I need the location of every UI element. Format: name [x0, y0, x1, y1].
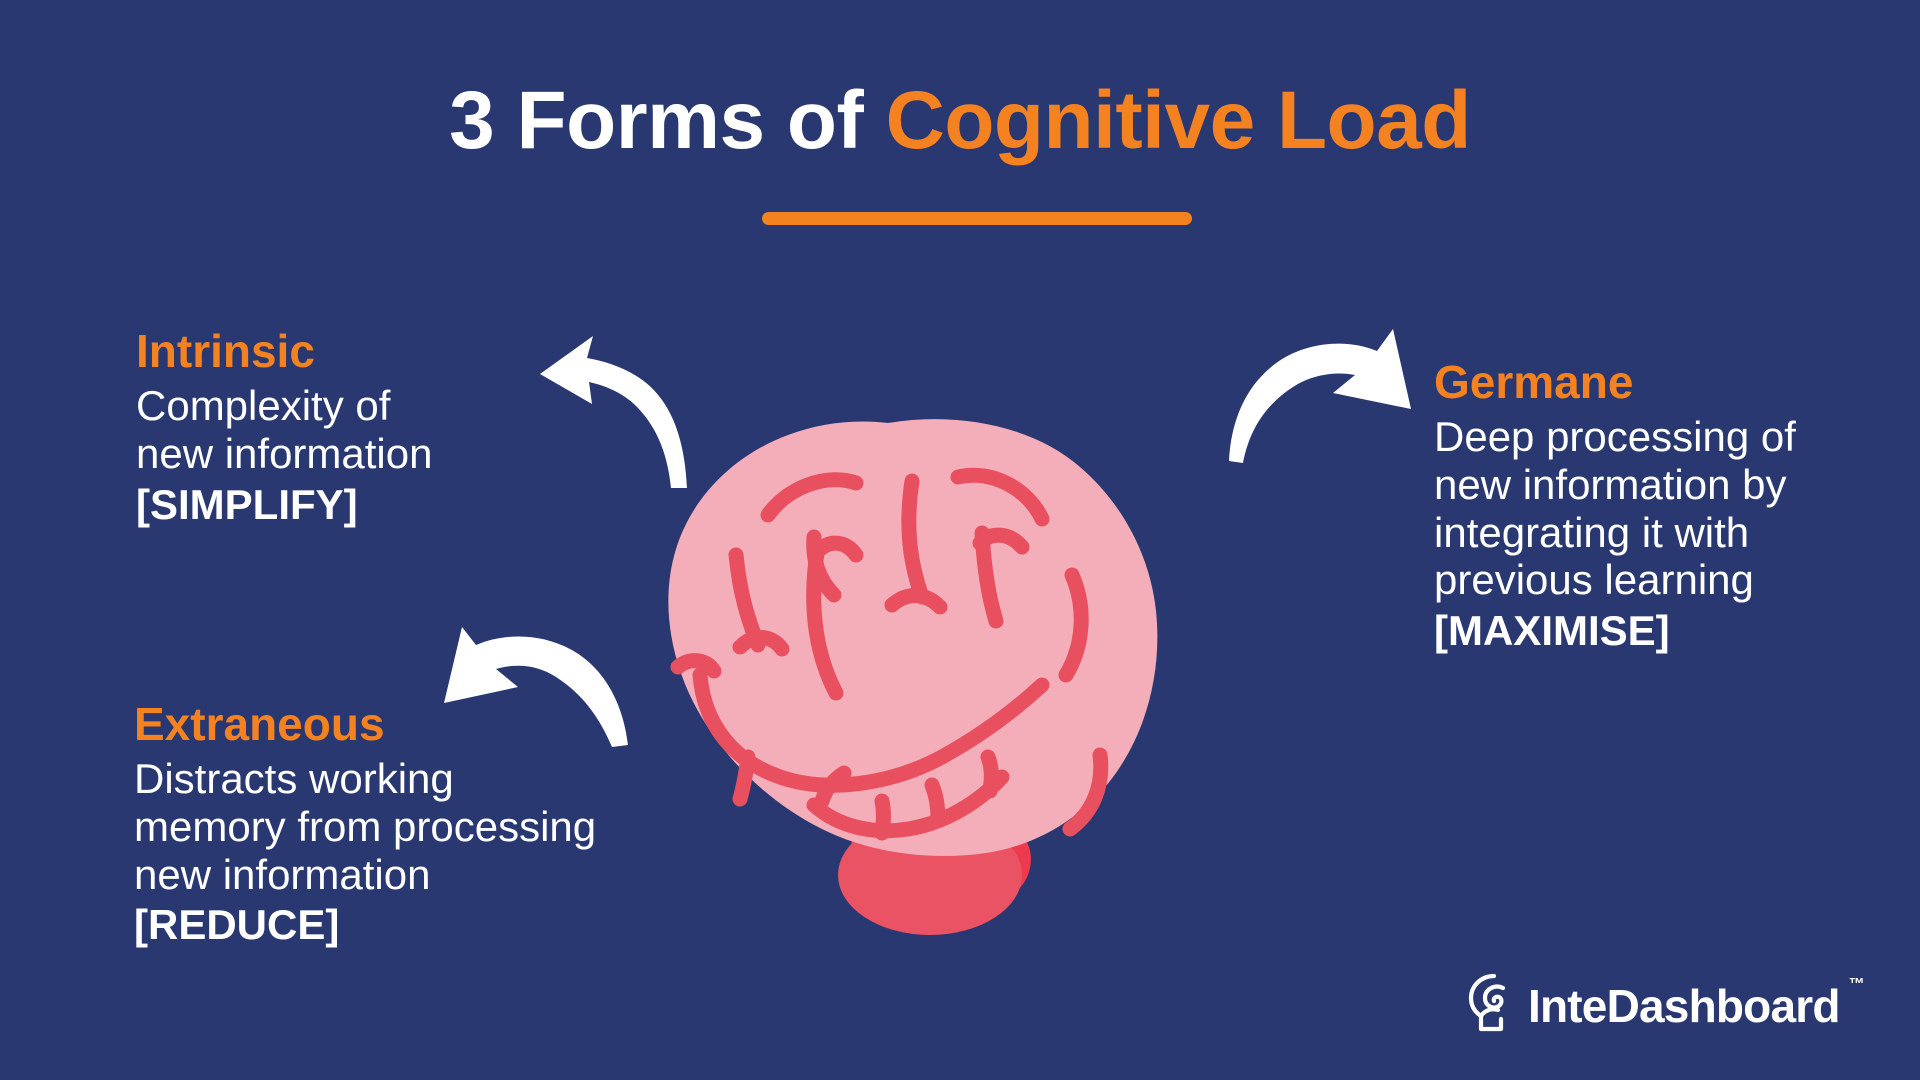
load-type-intrinsic: Intrinsic Complexity of new information … [136, 327, 432, 530]
load-type-germane: Germane Deep processing of new informati… [1434, 358, 1796, 657]
intrinsic-description: Complexity of new information [136, 382, 432, 478]
title-underline [762, 212, 1192, 225]
intrinsic-action-tag: [SIMPLIFY] [136, 480, 432, 530]
intrinsic-heading: Intrinsic [136, 327, 432, 376]
curved-arrow-up-right-icon [1225, 325, 1425, 470]
title-part-accent: Cognitive Load [886, 75, 1471, 166]
germane-line: Deep processing of [1434, 413, 1796, 461]
germane-action-tag: [MAXIMISE] [1434, 606, 1796, 656]
logo-wordmark: InteDashboard [1528, 983, 1840, 1029]
page-title: 3 Forms of Cognitive Load [0, 78, 1920, 164]
intrinsic-line: Complexity of [136, 382, 432, 430]
intedashboard-logo[interactable]: InteDashboard ™ [1468, 972, 1865, 1039]
brain-illustration [630, 405, 1170, 970]
extraneous-line: memory from processing [134, 803, 596, 851]
infographic-canvas: 3 Forms of Cognitive Load Intrinsic Comp… [0, 0, 1920, 1080]
extraneous-action-tag: [REDUCE] [134, 900, 596, 950]
extraneous-description: Distracts working memory from processing… [134, 755, 596, 899]
germane-line: previous learning [1434, 556, 1796, 604]
extraneous-line: new information [134, 851, 596, 899]
intrinsic-line: new information [136, 430, 432, 478]
extraneous-line: Distracts working [134, 755, 596, 803]
title-part-plain: 3 Forms of [449, 75, 885, 166]
germane-description: Deep processing of new information by in… [1434, 413, 1796, 605]
germane-heading: Germane [1434, 358, 1796, 407]
germane-line: integrating it with [1434, 509, 1796, 557]
brain-bulb-icon [1468, 972, 1520, 1039]
germane-line: new information by [1434, 461, 1796, 509]
logo-trademark: ™ [1849, 976, 1865, 994]
curved-arrow-down-left-icon [420, 625, 630, 760]
